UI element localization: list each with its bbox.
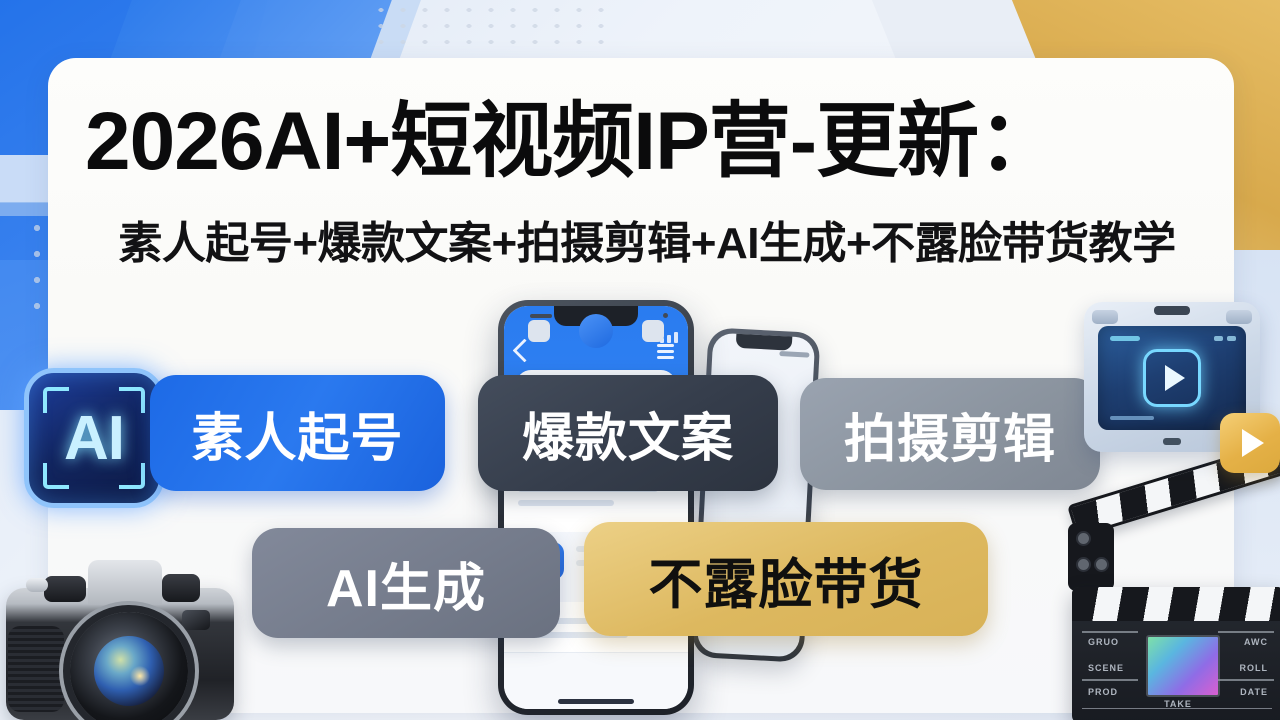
ai-badge-label: AI (64, 403, 124, 474)
camera-lens-flare (130, 666, 150, 686)
camera-lens (70, 612, 188, 720)
monitor-timecode-bar (1110, 416, 1154, 420)
monitor-rec-tag (1110, 336, 1140, 341)
ai-badge-icon: AI (24, 368, 164, 508)
corner-bracket-icon (119, 387, 145, 413)
monitor-port (1163, 438, 1181, 445)
camera-dial-left (44, 576, 86, 602)
phone-home-indicator (558, 699, 634, 704)
decor-dot-grid-top (370, 2, 620, 48)
tag-pill-baokuan-wenan[interactable]: 爆款文案 (478, 375, 778, 491)
nav-item-home[interactable] (528, 320, 550, 342)
tag-pill-buloulian-daihuo[interactable]: 不露脸带货 (584, 522, 988, 636)
camera-grip (8, 626, 64, 712)
clapper-prod-label: PROD (1088, 687, 1118, 697)
clapper-text-right: AWC (1244, 637, 1268, 647)
play-icon (1143, 349, 1201, 407)
monitor-status-icons (1214, 336, 1236, 341)
phone-front-camera-icon (663, 313, 668, 318)
poster-canvas: 2026AI+短视频IP营-更新： 素人起号+爆款文案+拍摄剪辑+AI生成+不露… (0, 0, 1280, 720)
content-line (518, 500, 614, 506)
camera-side-window (182, 610, 210, 630)
monitor-shoe (1154, 306, 1190, 315)
clapper-roll-label: ROLL (1240, 663, 1269, 673)
corner-bracket-icon (43, 387, 69, 413)
clapper-stripes (1072, 587, 1280, 621)
nav-item-profile[interactable] (642, 320, 664, 342)
phone-speaker (530, 314, 552, 318)
nav-create-button[interactable] (579, 314, 613, 348)
clapper-date-label: DATE (1240, 687, 1268, 697)
hamburger-menu-icon[interactable] (657, 344, 674, 362)
camera-lens-glass (94, 636, 164, 706)
phone-screen (504, 306, 688, 709)
clapper-scene-label: SCENE (1088, 663, 1124, 673)
phone-mockup-front (498, 300, 694, 715)
camera-pentaprism (88, 560, 162, 604)
monitor-screen (1098, 326, 1246, 430)
camera-dial-right (162, 574, 200, 602)
phone-back-notch (736, 334, 793, 351)
clapperboard-icon: GRUO AWD AWC SCENE ROLL PROD TAKE DATE (1010, 505, 1280, 720)
gold-play-button-icon[interactable] (1220, 413, 1280, 473)
clapper-text-left: GRUO (1088, 637, 1119, 647)
tag-pill-ai-shengcheng[interactable]: AI生成 (252, 528, 560, 638)
tag-pill-suren-qihao[interactable]: 素人起号 (150, 375, 445, 491)
monitor-mount-right (1226, 310, 1252, 324)
page-subtitle: 素人起号+爆款文案+拍摄剪辑+AI生成+不露脸带货教学 (72, 218, 1222, 270)
clapper-slate: GRUO AWD AWC SCENE ROLL PROD TAKE DATE (1072, 587, 1280, 720)
clapper-hinge (1068, 523, 1114, 591)
tag-pill-paishe-jianji[interactable]: 拍摄剪辑 (800, 378, 1100, 490)
corner-bracket-icon (119, 463, 145, 489)
clapper-color-screen (1146, 635, 1220, 697)
page-title: 2026AI+短视频IP营-更新： (85, 98, 1195, 186)
corner-bracket-icon (43, 463, 69, 489)
camera-shutter-button (26, 578, 48, 592)
monitor-mount-left (1092, 310, 1118, 324)
dslr-camera-icon (0, 548, 244, 720)
